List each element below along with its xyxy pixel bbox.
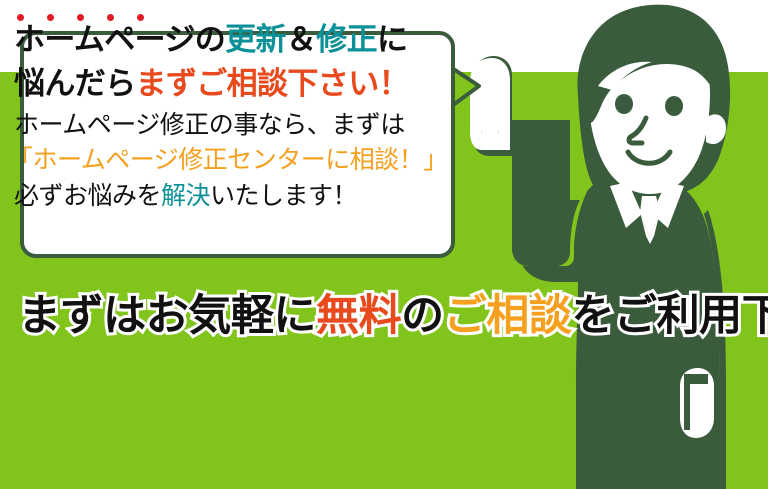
emphasis-dot — [107, 14, 114, 21]
speech-bubble-content: ホームページの更新＆修正に 悩んだらまずご相談下さい！ ホームページ修正の事なら… — [0, 0, 435, 227]
promo-banner: ホームページの更新＆修正に 悩んだらまずご相談下さい！ ホームページ修正の事なら… — [0, 0, 768, 489]
sub-line-2: 「ホームページ修正センターに相談！」 — [8, 148, 448, 173]
emphasis-dot — [47, 14, 54, 21]
headline-2-segment-1: 悩んだら — [14, 66, 136, 101]
sub-line-3-segment-2: 解決 — [161, 182, 210, 210]
sub-line-3-segment-3: いたします！ — [210, 182, 357, 210]
headline-1-segment-1: ホームページの — [14, 22, 225, 57]
headline-line-1: ホームページの更新＆修正に — [14, 24, 407, 55]
sub-line-3-segment-1: 必ずお悩みを — [14, 182, 161, 210]
emphasis-dot — [17, 14, 24, 21]
headline-1-segment-3: ＆ — [286, 22, 316, 57]
sub-line-3: 必ずお悩みを解決いたします！ — [14, 184, 357, 209]
emphasis-dots — [17, 14, 144, 21]
emphasis-dot — [137, 14, 144, 21]
bottom-call-to-action: まずはお気軽に無料のご相談をご利用下さい。 — [18, 281, 768, 343]
headline-1-segment-4: 修正 — [316, 22, 377, 57]
headline-1-segment-2: 更新 — [225, 22, 286, 57]
bottom-segment-5: をご利用下さい。 — [571, 292, 768, 340]
headline-1-segment-5: に — [377, 22, 407, 57]
emphasis-dot — [77, 14, 84, 21]
headline-line-2: 悩んだらまずご相談下さい！ — [14, 68, 409, 99]
bottom-segment-2: 無料 — [316, 292, 401, 340]
bottom-segment-3: の — [401, 292, 444, 340]
bottom-segment-4: ご相談 — [444, 292, 572, 340]
bottom-segment-1: まずはお気軽に — [18, 292, 316, 340]
sub-line-1: ホームページ修正の事なら、まずは — [14, 113, 405, 138]
businessman-illustration — [470, 0, 768, 489]
headline-2-segment-2: まずご相談下さい！ — [136, 66, 409, 101]
